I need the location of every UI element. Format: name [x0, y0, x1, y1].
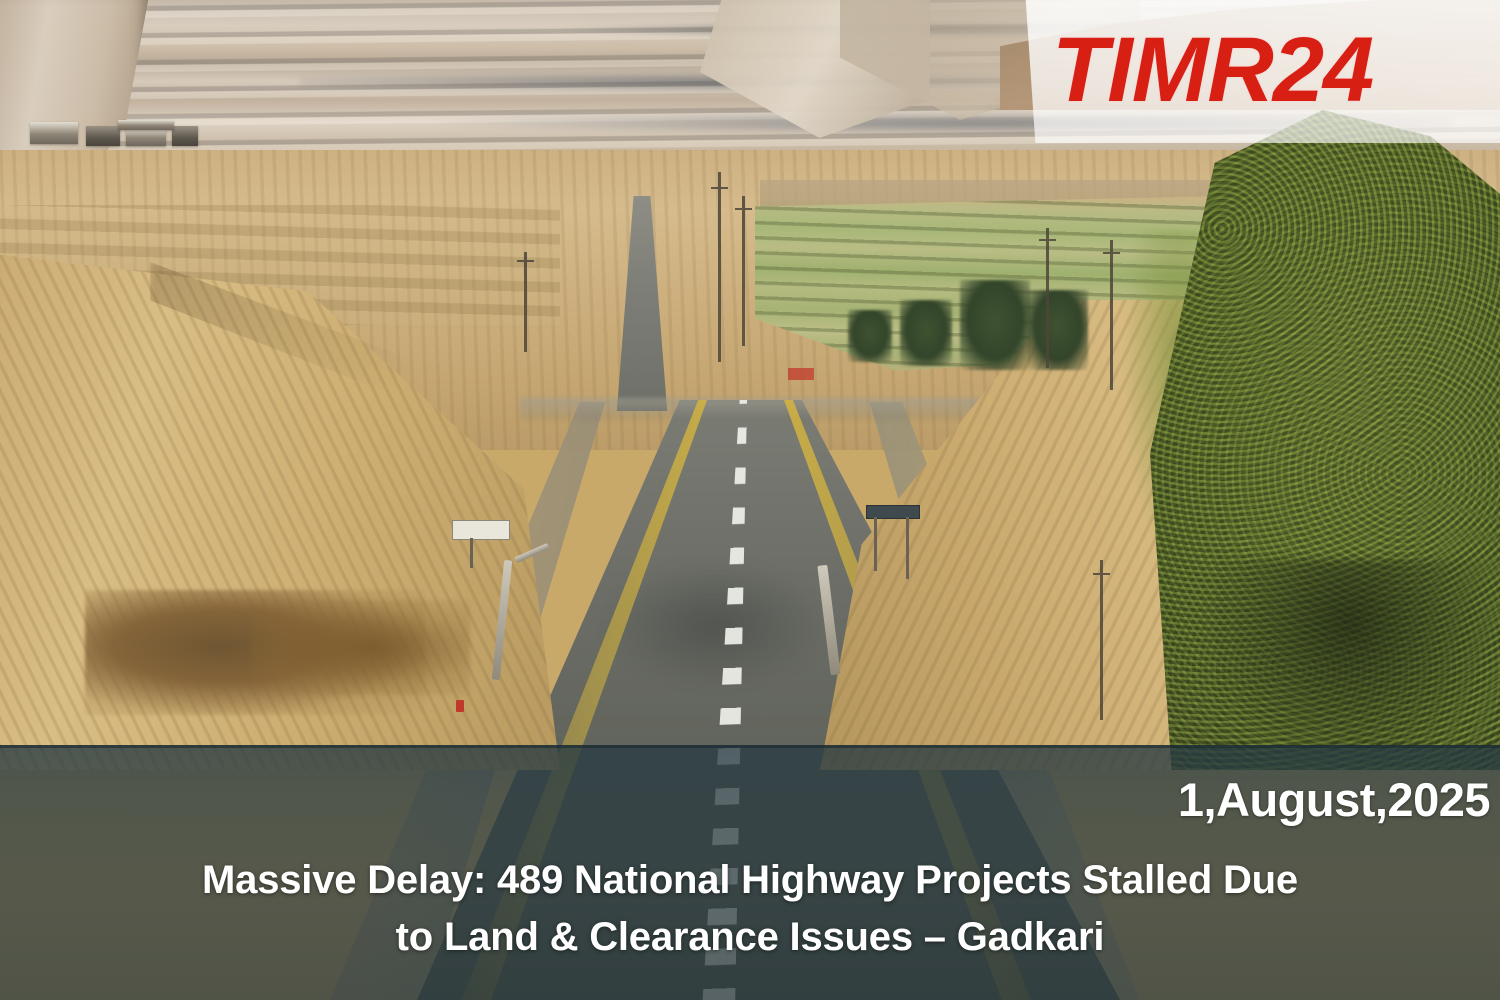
conifer-tree-2: [1028, 290, 1088, 370]
headline: Massive Delay: 489 National Highway Proj…: [60, 852, 1440, 966]
roadside-sign-right-post-1: [874, 517, 877, 571]
roadside-sign-right-post-2: [906, 517, 909, 579]
village-building-3: [126, 128, 166, 146]
utility-pole-2: [742, 196, 745, 346]
roadside-sign-left-post: [470, 538, 473, 568]
village-building-4: [172, 126, 198, 146]
conifer-tree-4: [848, 310, 892, 362]
brand-logo-text[interactable]: TIMR24: [1052, 10, 1492, 130]
roadside-red-marker: [456, 700, 464, 712]
far-red-structure: [788, 368, 814, 380]
utility-pole-4: [1110, 240, 1113, 390]
right-tree-shadow: [1200, 560, 1500, 770]
conifer-tree-1: [960, 280, 1030, 370]
utility-pole-5: [1100, 560, 1103, 720]
village-building-1: [30, 122, 78, 144]
dry-bush-left-2: [250, 600, 470, 695]
conifer-tree-3: [900, 300, 952, 366]
road-crest: [520, 398, 990, 420]
village-building-2: [86, 126, 120, 146]
utility-pole-1: [718, 172, 721, 362]
news-graphic-card: TIMR24 1,August,2025 Massive Delay: 489 …: [0, 0, 1500, 1000]
publish-date: 1,August,2025: [1178, 772, 1490, 827]
utility-pole-6: [524, 252, 527, 352]
headline-line-1: Massive Delay: 489 National Highway Proj…: [60, 852, 1440, 909]
roadside-sign-left: [452, 520, 510, 540]
village-building-5: [118, 120, 174, 130]
headline-line-2: to Land & Clearance Issues – Gadkari: [60, 909, 1440, 966]
utility-pole-3: [1046, 228, 1049, 368]
